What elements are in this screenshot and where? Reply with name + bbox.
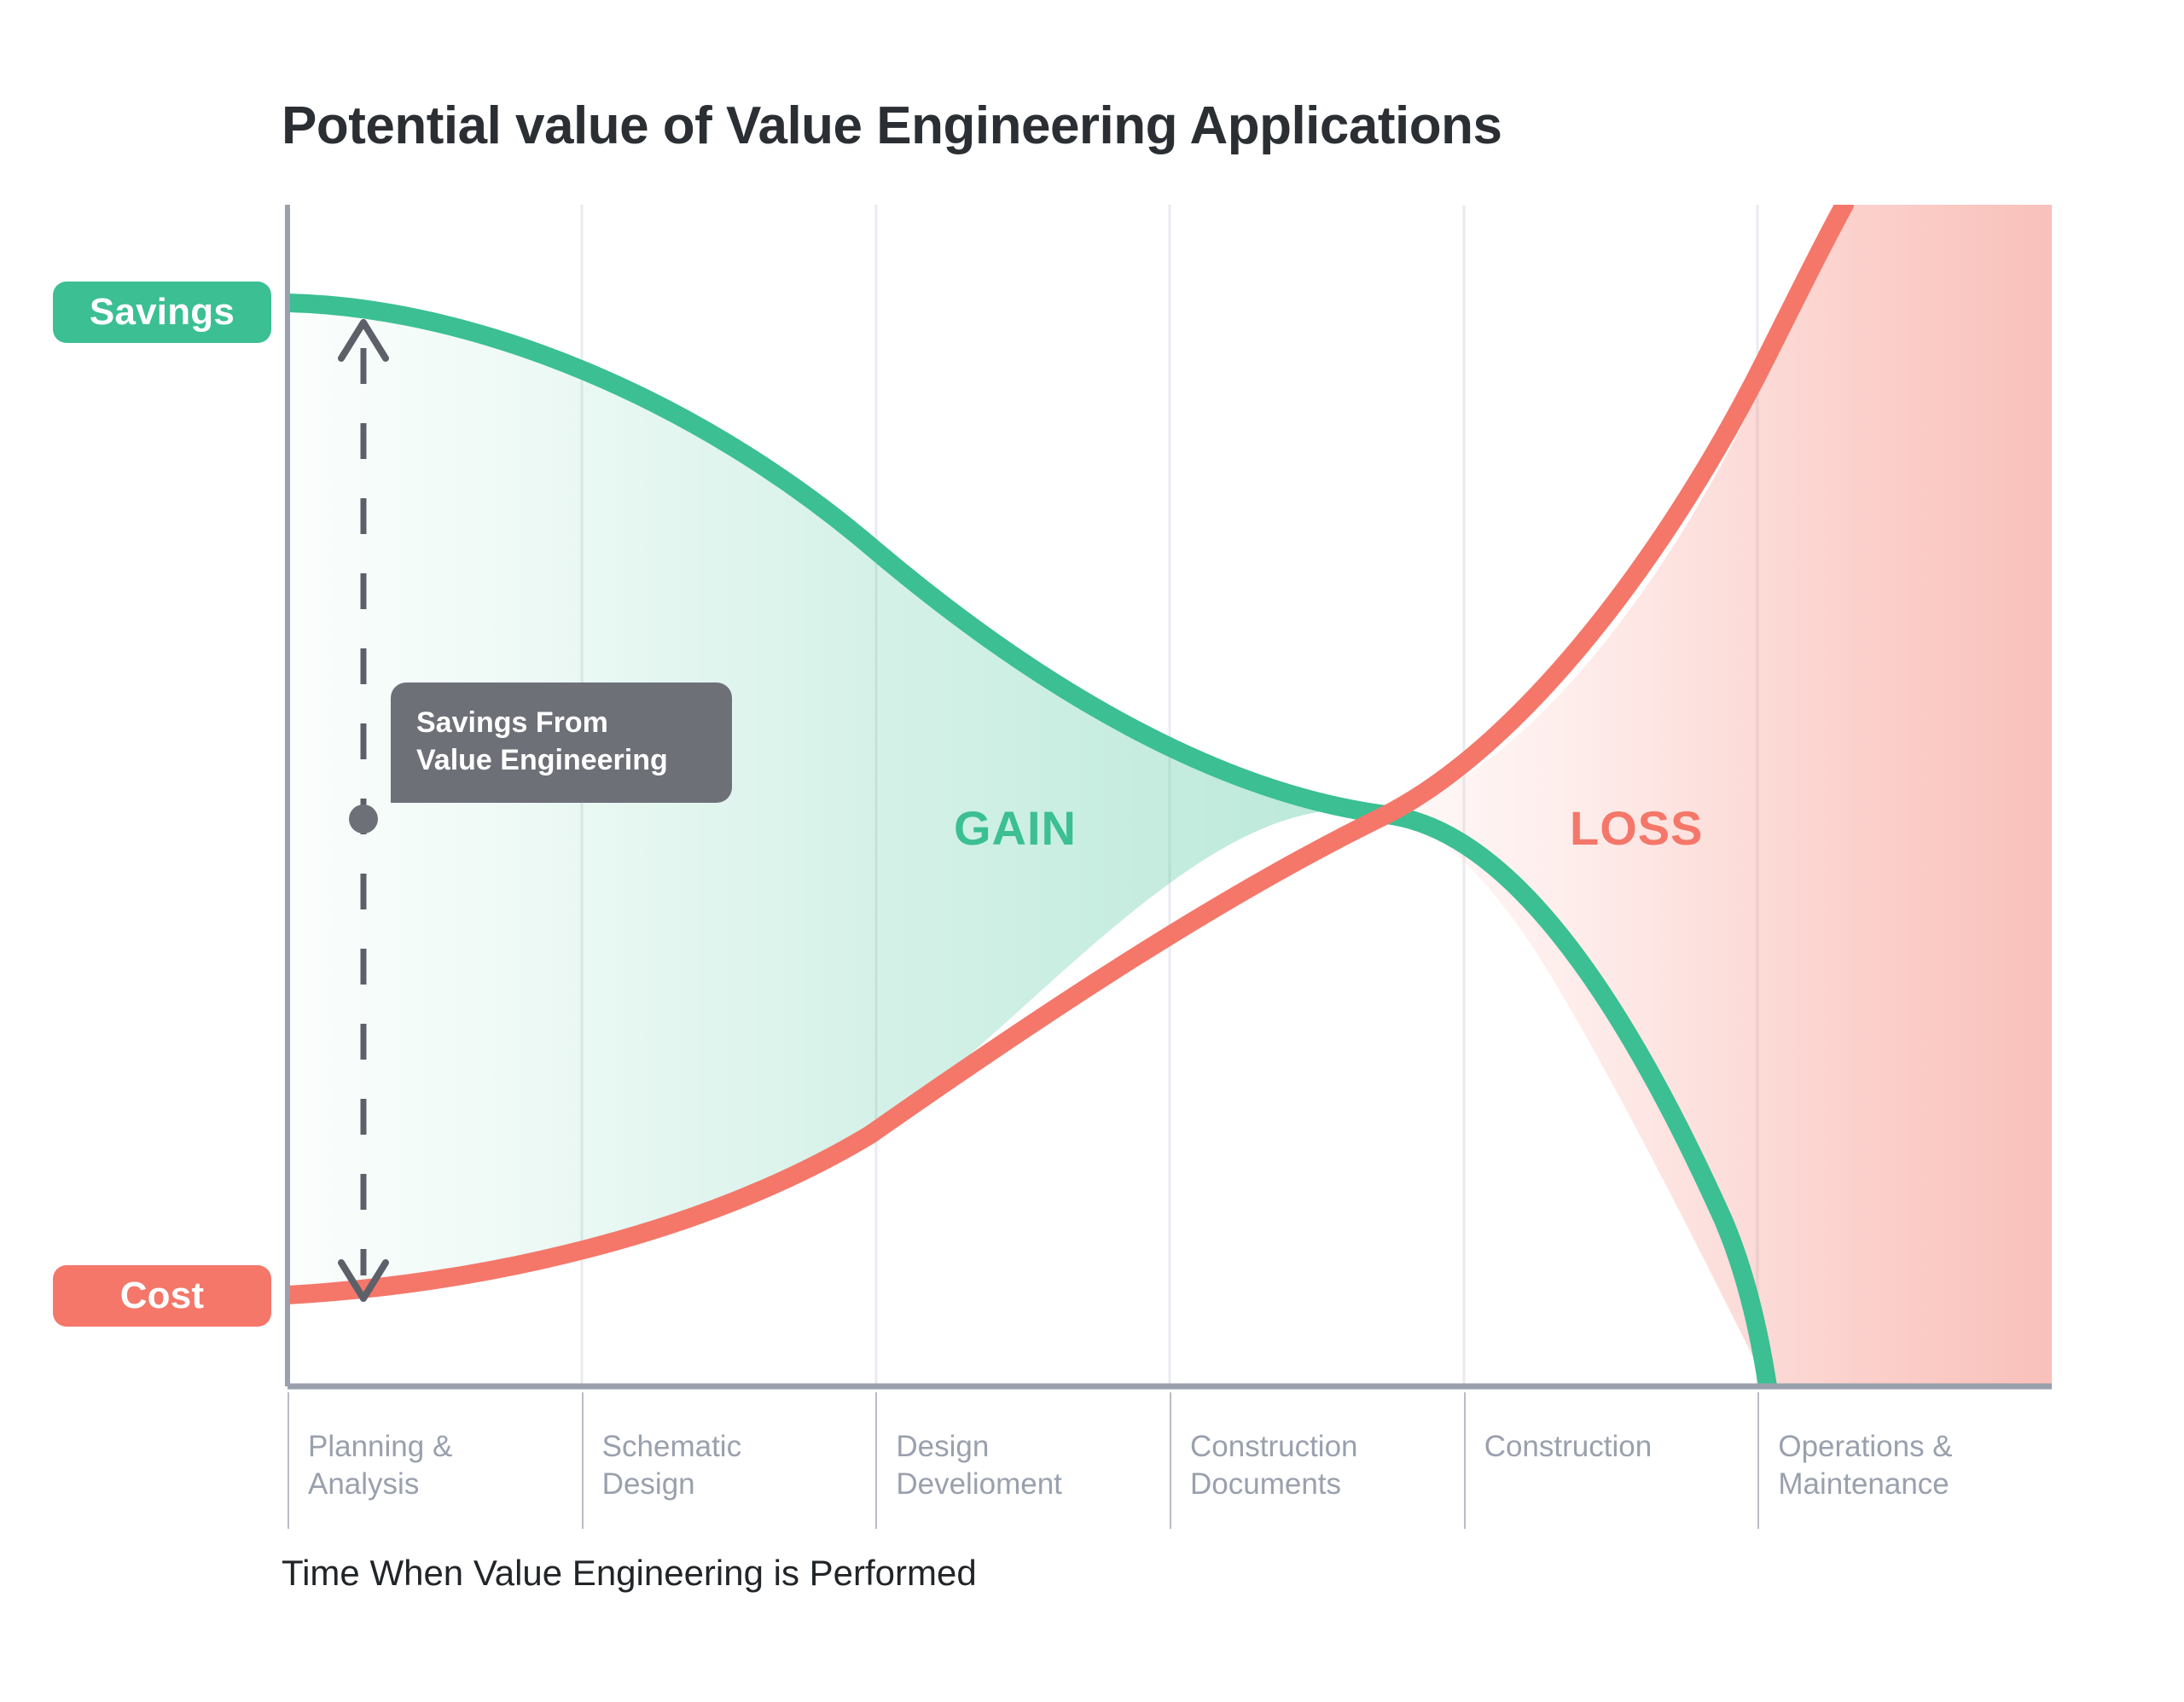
category-schematic-design: Schematic Design [582, 1392, 876, 1529]
category-label-line: Documents [1190, 1466, 1464, 1503]
category-axis: Planning & Analysis Schematic Design Des… [288, 1392, 2052, 1529]
category-label-line: Maintenance [1778, 1466, 2052, 1503]
category-operations-maintenance: Operations & Maintenance [1757, 1392, 2052, 1529]
category-planning-analysis: Planning & Analysis [288, 1392, 582, 1529]
category-label-line: Design [896, 1428, 1170, 1466]
savings-axis-badge: Savings [53, 282, 271, 343]
category-construction-documents: Construction Documents [1170, 1392, 1464, 1529]
annotation-anchor-dot [349, 805, 378, 834]
x-axis-caption: Time When Value Engineering is Performed [282, 1553, 977, 1594]
category-construction: Construction [1464, 1392, 1758, 1529]
savings-badge-label: Savings [90, 291, 235, 334]
category-label-line: Planning & [308, 1428, 582, 1466]
category-label-line: Schematic [602, 1428, 876, 1466]
category-label-line: Operations & [1778, 1428, 2052, 1466]
category-label-line: Design [602, 1466, 876, 1503]
category-label-line: Construction [1484, 1428, 1758, 1466]
callout-line-2: Value Engineering [416, 742, 706, 780]
loss-region-label: LOSS [1570, 800, 1703, 856]
cost-axis-badge: Cost [53, 1265, 271, 1327]
category-label-line: Develioment [896, 1466, 1170, 1503]
chart-canvas: Potential value of Value Engineering App… [0, 0, 2184, 1702]
cost-badge-label: Cost [120, 1275, 205, 1317]
gain-region-label: GAIN [954, 800, 1077, 856]
savings-callout-tooltip: Savings From Value Engineering [391, 683, 732, 803]
callout-line-1: Savings From [416, 705, 706, 742]
category-label-line: Construction [1190, 1428, 1464, 1466]
category-label-line: Analysis [308, 1466, 582, 1503]
category-design-development: Design Develioment [875, 1392, 1170, 1529]
